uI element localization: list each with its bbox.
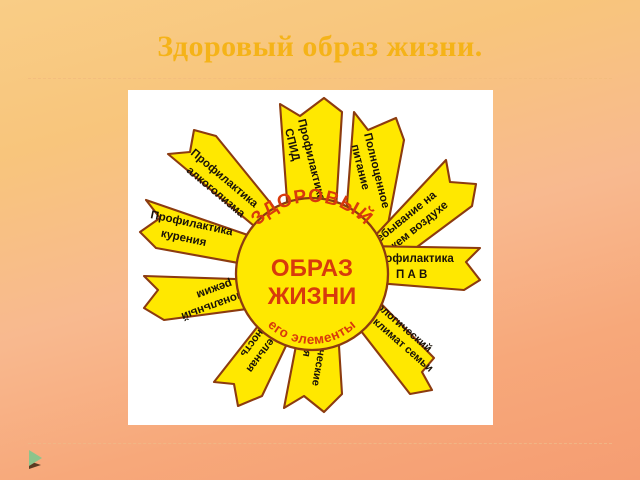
center-line-1: ОБРАЗ [271, 255, 353, 282]
title-block: Здоровый образ жизни. [0, 30, 640, 64]
footer-divider [28, 443, 612, 444]
play-triangle-icon[interactable] [29, 450, 45, 468]
picture-panel: Профилактика СПИД Полноценное питание [128, 90, 493, 425]
title-divider [28, 78, 612, 79]
diagram-center-hub: ЗДОРОВЫЙ ОБРАЗ ЖИЗНИ его элементы [236, 186, 388, 350]
petal-label-line2: П А В [396, 269, 427, 281]
healthy-lifestyle-flower-diagram: Профилактика СПИД Полноценное питание [128, 90, 493, 425]
center-line-2: ЖИЗНИ [267, 283, 357, 310]
play-triangle-glyph [29, 450, 42, 466]
page-title: Здоровый образ жизни. [0, 30, 640, 64]
presentation-slide: Здоровый образ жизни. Профилактика [0, 0, 640, 480]
